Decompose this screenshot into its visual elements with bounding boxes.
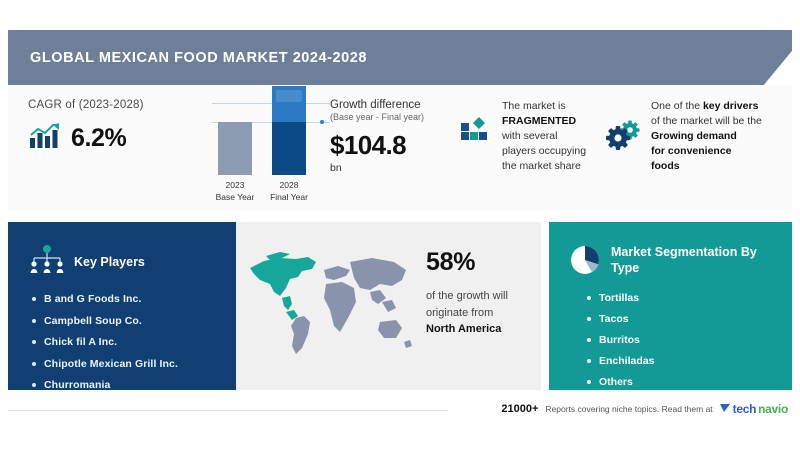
- list-item: Campbell Soup Co.: [44, 315, 236, 327]
- region-stat: 58% of the growth will originate from No…: [426, 248, 536, 338]
- pie-chart-icon: [569, 244, 601, 281]
- growth-difference-sublabel: (Base year - Final year): [330, 112, 458, 122]
- list-item: Enchiladas: [599, 355, 792, 367]
- growth-difference-block: Growth difference (Base year - Final yea…: [330, 99, 458, 174]
- growth-difference-label: Growth difference: [330, 99, 458, 111]
- bar-sheen: [276, 90, 302, 102]
- frag-line2: with several: [502, 130, 557, 142]
- cagr-label: CAGR of (2023-2028): [28, 99, 208, 111]
- drv-line2: of the market will be the: [651, 115, 762, 127]
- list-item: Chick fil A Inc.: [44, 336, 236, 348]
- growth-bar-chart-icon: [28, 122, 62, 155]
- bar-final-year: [272, 86, 306, 175]
- list-item: Burritos: [599, 334, 792, 346]
- top-metrics-strip: CAGR of (2023-2028) 6.2%: [8, 85, 792, 211]
- key-drivers-text: One of the key drivers of the market wil…: [651, 99, 762, 174]
- middle-row: Key Players B and G Foods Inc. Campbell …: [8, 222, 792, 390]
- market-structure-text: The market is FRAGMENTED with several pl…: [502, 99, 586, 174]
- segmentation-panel: Market Segmentation By Type Tortillas Ta…: [549, 222, 792, 390]
- drv-line1b: key drivers: [703, 100, 758, 112]
- region-line1: of the growth will: [426, 290, 508, 302]
- drv-emphasis2: for convenience: [651, 145, 732, 157]
- list-item: Churromania: [44, 379, 236, 391]
- segmentation-header: Market Segmentation By Type: [549, 222, 792, 281]
- frag-line3: players occupying: [502, 145, 586, 157]
- bar-label-final: 2028 Final Year: [259, 180, 319, 203]
- frag-line1: The market is: [502, 100, 566, 112]
- leader-line-top: [212, 103, 330, 104]
- drv-emphasis1: Growing demand: [651, 130, 737, 142]
- drv-emphasis3: foods: [651, 160, 680, 172]
- people-network-icon: [30, 244, 64, 279]
- frag-line4: the market share: [502, 160, 581, 172]
- header: GLOBAL MEXICAN FOOD MARKET 2024-2028: [8, 30, 792, 85]
- segmentation-title: Market Segmentation By Type: [611, 244, 761, 277]
- report-count: 21000+: [501, 403, 538, 415]
- cagr-block: CAGR of (2023-2028) 6.2%: [28, 99, 208, 155]
- leader-dot: [320, 120, 324, 124]
- key-players-header: Key Players: [8, 222, 236, 279]
- list-item: Tortillas: [599, 292, 792, 304]
- region-line2: originate from: [426, 307, 493, 319]
- page-title: GLOBAL MEXICAN FOOD MARKET 2024-2028: [30, 50, 367, 66]
- key-players-title: Key Players: [74, 255, 145, 269]
- list-item: Chipotle Mexican Grill Inc.: [44, 358, 236, 370]
- frag-emphasis: FRAGMENTED: [502, 115, 576, 127]
- growth-difference-value: $104.8: [330, 130, 458, 161]
- list-item: Others: [599, 376, 792, 388]
- bar-label-base: 2023 Base Year: [205, 180, 265, 203]
- footer-divider: [8, 410, 448, 411]
- list-item: Tacos: [599, 313, 792, 325]
- footer-text: Reports covering niche topics. Read them…: [545, 404, 712, 414]
- region-description: of the growth will originate from North …: [426, 288, 536, 338]
- key-drivers-block: One of the key drivers of the market wil…: [606, 99, 791, 174]
- blocks-grid-icon: [460, 99, 492, 174]
- logo-triangle-icon: [720, 400, 731, 418]
- logo-text-navio: navio: [758, 402, 788, 416]
- infographic-canvas: GLOBAL MEXICAN FOOD MARKET 2024-2028 CAG…: [0, 0, 800, 450]
- footer: 21000+ Reports covering niche topics. Re…: [8, 400, 792, 420]
- drv-line1a: One of the: [651, 100, 703, 112]
- market-structure-block: The market is FRAGMENTED with several pl…: [460, 99, 610, 174]
- world-map: [246, 244, 416, 364]
- bar-base-year: [218, 122, 252, 175]
- growth-difference-unit: bn: [330, 162, 458, 174]
- technavio-logo[interactable]: technavio: [720, 400, 788, 418]
- key-players-panel: Key Players B and G Foods Inc. Campbell …: [8, 222, 236, 390]
- bar-chart: 2023 Base Year 2028 Final Year: [204, 93, 334, 203]
- region-name: North America: [426, 323, 501, 335]
- map-region-north-america: [250, 252, 316, 320]
- bar-growth-segment: [272, 86, 306, 122]
- region-panel: 58% of the growth will originate from No…: [236, 222, 541, 390]
- cagr-value: 6.2%: [71, 124, 126, 153]
- key-players-list: B and G Foods Inc. Campbell Soup Co. Chi…: [8, 293, 236, 391]
- logo-text-tech: tech: [733, 402, 756, 416]
- region-percent: 58%: [426, 248, 536, 277]
- gears-icon: [606, 99, 642, 174]
- segmentation-list: Tortillas Tacos Burritos Enchiladas Othe…: [549, 292, 792, 388]
- list-item: B and G Foods Inc.: [44, 293, 236, 305]
